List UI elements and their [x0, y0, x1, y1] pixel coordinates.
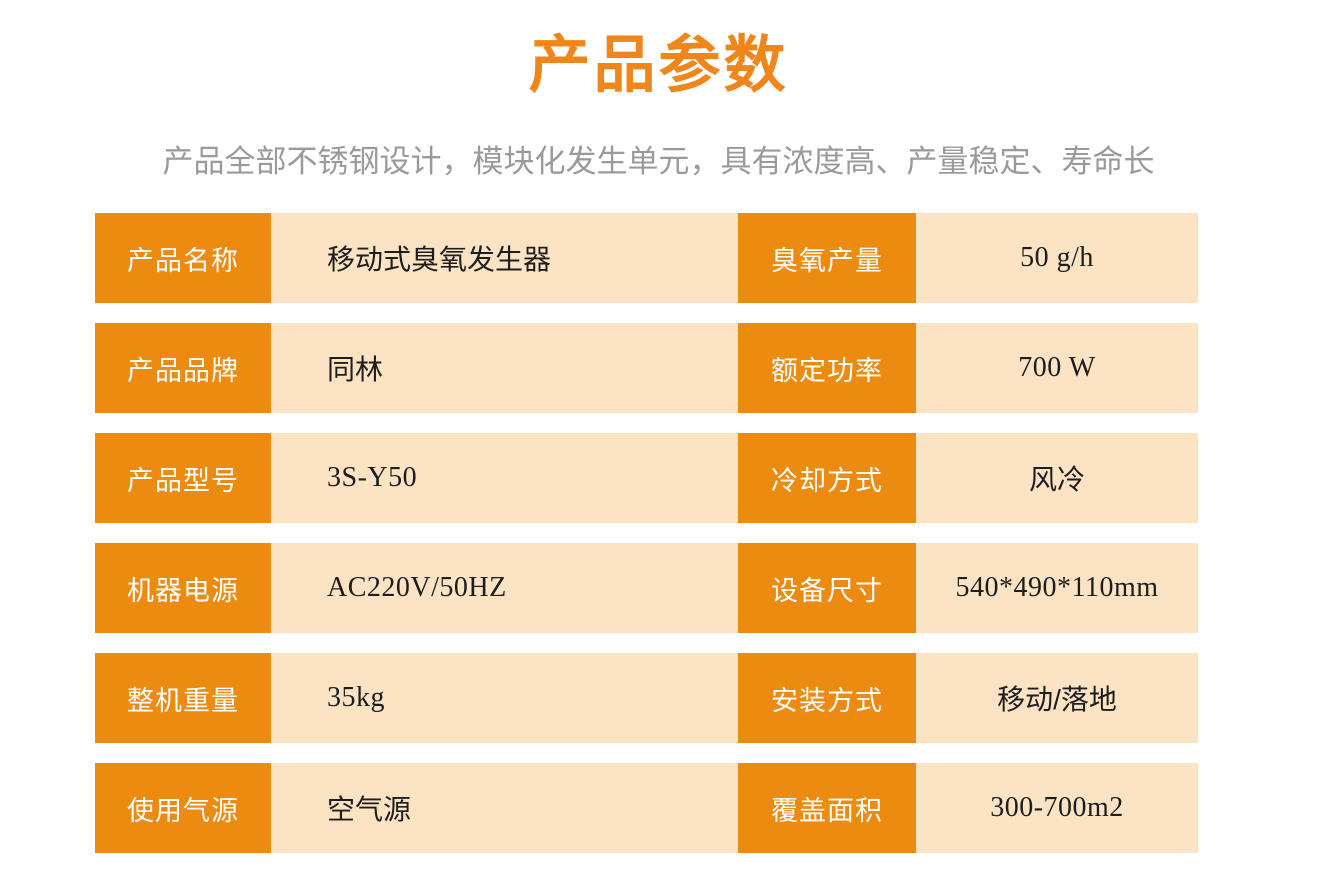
table-row: 产品品牌 同林 额定功率 700 W	[95, 323, 1198, 413]
spec-value-left: 35kg	[271, 653, 738, 743]
spec-value-left: 3S-Y50	[271, 433, 738, 523]
page-subtitle: 产品全部不锈钢设计，模块化发生单元，具有浓度高、产量稳定、寿命长	[0, 143, 1317, 182]
spec-label-right: 安装方式	[738, 653, 916, 743]
spec-value-left: AC220V/50HZ	[271, 543, 738, 633]
spec-value-right: 移动/落地	[916, 653, 1198, 743]
table-row: 机器电源 AC220V/50HZ 设备尺寸 540*490*110mm	[95, 543, 1198, 633]
table-row: 使用气源 空气源 覆盖面积 300-700m2	[95, 763, 1198, 853]
page-title: 产品参数	[0, 30, 1317, 101]
spec-value-left: 同林	[271, 323, 738, 413]
spec-label-right: 冷却方式	[738, 433, 916, 523]
spec-label-left: 使用气源	[95, 763, 271, 853]
spec-value-right: 300-700m2	[916, 763, 1198, 853]
spec-value-right: 700 W	[916, 323, 1198, 413]
table-row: 产品名称 移动式臭氧发生器 臭氧产量 50 g/h	[95, 213, 1198, 303]
spec-label-left: 整机重量	[95, 653, 271, 743]
spec-label-left: 产品型号	[95, 433, 271, 523]
spec-label-left: 机器电源	[95, 543, 271, 633]
spec-value-right: 50 g/h	[916, 213, 1198, 303]
spec-label-right: 覆盖面积	[738, 763, 916, 853]
spec-label-right: 臭氧产量	[738, 213, 916, 303]
spec-label-right: 设备尺寸	[738, 543, 916, 633]
spec-label-left: 产品品牌	[95, 323, 271, 413]
table-row: 产品型号 3S-Y50 冷却方式 风冷	[95, 433, 1198, 523]
spec-label-left: 产品名称	[95, 213, 271, 303]
spec-label-right: 额定功率	[738, 323, 916, 413]
spec-table: 产品名称 移动式臭氧发生器 臭氧产量 50 g/h 产品品牌 同林 额定功率 7…	[95, 213, 1198, 853]
spec-value-right: 540*490*110mm	[916, 543, 1198, 633]
spec-value-left: 移动式臭氧发生器	[271, 213, 738, 303]
product-spec-page: 产品参数 产品全部不锈钢设计，模块化发生单元，具有浓度高、产量稳定、寿命长 产品…	[0, 0, 1317, 895]
spec-value-left: 空气源	[271, 763, 738, 853]
table-row: 整机重量 35kg 安装方式 移动/落地	[95, 653, 1198, 743]
spec-value-right: 风冷	[916, 433, 1198, 523]
